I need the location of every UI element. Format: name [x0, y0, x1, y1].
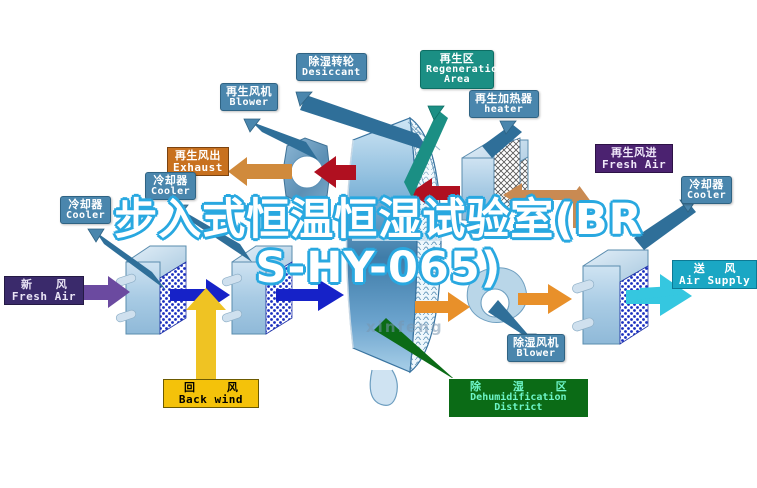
label-cooler-right-cn: 冷却器 [687, 179, 726, 191]
label-regeneration-blower-cn: 再生风机 [226, 86, 272, 98]
label-dehumidification-district: 除 湿 区 Dehumidification District [448, 378, 589, 418]
diagram-canvas: xinfeng 除湿转轮 Desiccant 再生风机 Blower 再生风出 … [0, 0, 757, 488]
label-regeneration-heater: 再生加热器 heater [469, 90, 539, 118]
label-fresh-air-inlet-en: Fresh Air [11, 291, 77, 303]
label-cooler-left-outer-en: Cooler [66, 211, 105, 222]
label-desiccant-wheel-en: Desiccant [302, 68, 361, 79]
label-regeneration-blower: 再生风机 Blower [220, 83, 278, 111]
label-cooler-left-inner-en: Cooler [151, 187, 190, 198]
back-wind-arrow [186, 288, 226, 380]
label-air-supply: 送 风 Air Supply [672, 260, 757, 289]
label-dehumidification-blower-en: Blower [513, 349, 559, 360]
label-cooler-left-inner-cn: 冷却器 [151, 175, 190, 187]
dry-air-arrow-2 [518, 284, 572, 314]
label-cooler-right-en: Cooler [687, 191, 726, 202]
label-regeneration-area-cn: 再生区 [426, 53, 488, 65]
label-cooler-left-outer: 冷却器 Cooler [60, 196, 111, 224]
label-air-supply-cn: 送 风 [679, 263, 750, 275]
label-regeneration-blower-en: Blower [226, 98, 272, 109]
label-cooler-left-outer-cn: 冷却器 [66, 199, 105, 211]
label-back-wind-en: Back wind [170, 394, 252, 406]
label-air-supply-en: Air Supply [679, 275, 750, 287]
label-regeneration-fresh-air-en: Fresh Air [602, 159, 666, 171]
label-back-wind: 回 风 Back wind [163, 379, 259, 408]
label-regeneration-area: 再生区 Regeneration Area [420, 50, 494, 89]
label-regeneration-heater-en: heater [475, 105, 533, 116]
label-regeneration-exhaust-cn: 再生风出 [173, 150, 223, 162]
label-regeneration-area-en: Regeneration Area [426, 65, 488, 86]
label-dehumidification-district-en: Dehumidification District [458, 393, 578, 414]
label-desiccant-wheel: 除湿转轮 Desiccant [296, 53, 367, 81]
label-dehumidification-blower: 除湿风机 Blower [507, 334, 565, 362]
label-desiccant-wheel-cn: 除湿转轮 [302, 56, 361, 68]
diagram-graphics [0, 0, 757, 488]
label-back-wind-cn: 回 风 [170, 382, 252, 394]
label-regeneration-fresh-air: 再生风进 Fresh Air [595, 144, 673, 173]
label-regeneration-heater-cn: 再生加热器 [475, 93, 533, 105]
exhaust-arrow [228, 157, 292, 186]
label-regeneration-fresh-air-cn: 再生风进 [602, 147, 666, 159]
label-cooler-left-inner: 冷却器 Cooler [145, 172, 196, 200]
label-cooler-right: 冷却器 Cooler [681, 176, 732, 204]
watermark-text: xinfeng [366, 318, 444, 336]
label-dehumidification-blower-cn: 除湿风机 [513, 337, 559, 349]
label-fresh-air-inlet-cn: 新 风 [11, 279, 77, 291]
label-fresh-air-inlet: 新 风 Fresh Air [4, 276, 84, 305]
label-dehumidification-district-cn: 除 湿 区 [456, 381, 581, 393]
